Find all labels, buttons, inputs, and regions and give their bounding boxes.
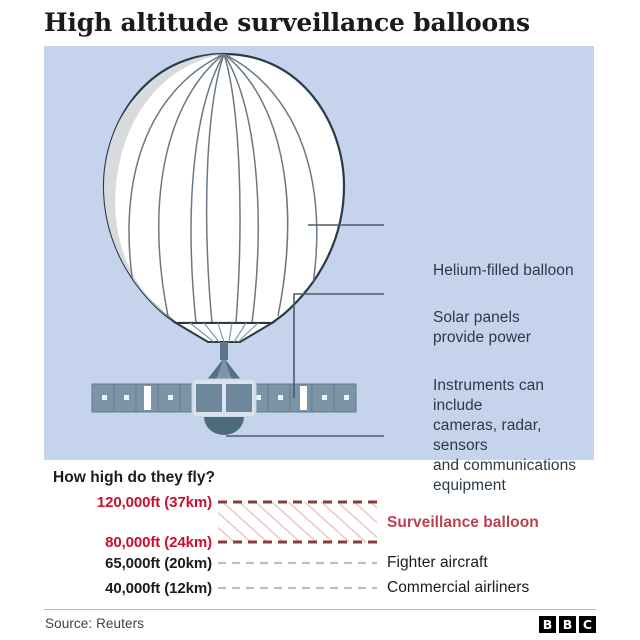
altitude-chart: 120,000ft (37km) 80,000ft (24km) 65,000f… xyxy=(44,490,604,600)
source-credit: Source: Reuters xyxy=(45,616,144,631)
balloon-envelope xyxy=(99,54,344,323)
bbc-logo-letter-2: B xyxy=(559,616,576,633)
altitude-label-120000ft: 120,000ft (37km) xyxy=(44,494,212,511)
callout-solar-panels-line2: provide power xyxy=(433,328,531,348)
chart-heading: How high do they fly? xyxy=(53,469,215,487)
callout-solar-panels-line1: Solar panels xyxy=(433,308,531,328)
bbc-logo: B B C xyxy=(539,616,596,633)
callout-instruments-line1: Instruments can include xyxy=(433,376,594,416)
instrument-payload xyxy=(192,379,256,435)
footer-divider xyxy=(44,609,596,610)
altitude-label-65000ft: 65,000ft (20km) xyxy=(44,555,212,572)
legend-fighter-aircraft: Fighter aircraft xyxy=(387,554,488,572)
page-title: High altitude surveillance balloons xyxy=(44,8,604,38)
illustration-panel: Helium-filled balloon Solar panels provi… xyxy=(44,46,594,460)
series-surveillance-balloon xyxy=(218,502,377,542)
callout-instruments-line3: and communications xyxy=(433,456,594,476)
altitude-label-80000ft: 80,000ft (24km) xyxy=(44,534,212,551)
legend-commercial-airliners: Commercial airliners xyxy=(387,579,529,597)
altitude-label-40000ft: 40,000ft (12km) xyxy=(44,580,212,597)
bbc-logo-letter-1: B xyxy=(539,616,556,633)
callout-helium-balloon-line1: Helium-filled balloon xyxy=(433,261,574,281)
balloon-neck xyxy=(176,323,272,360)
callout-helium-balloon: Helium-filled balloon xyxy=(433,261,574,281)
legend-surveillance-balloon: Surveillance balloon xyxy=(387,514,539,532)
callout-instruments: Instruments can include cameras, radar, … xyxy=(433,376,594,496)
callout-solar-panels: Solar panels provide power xyxy=(433,308,531,348)
bbc-logo-letter-3: C xyxy=(579,616,596,633)
leader-line-solar xyxy=(294,294,384,398)
infographic-root: High altitude surveillance balloons xyxy=(0,0,640,640)
callout-instruments-line2: cameras, radar, sensors xyxy=(433,416,594,456)
